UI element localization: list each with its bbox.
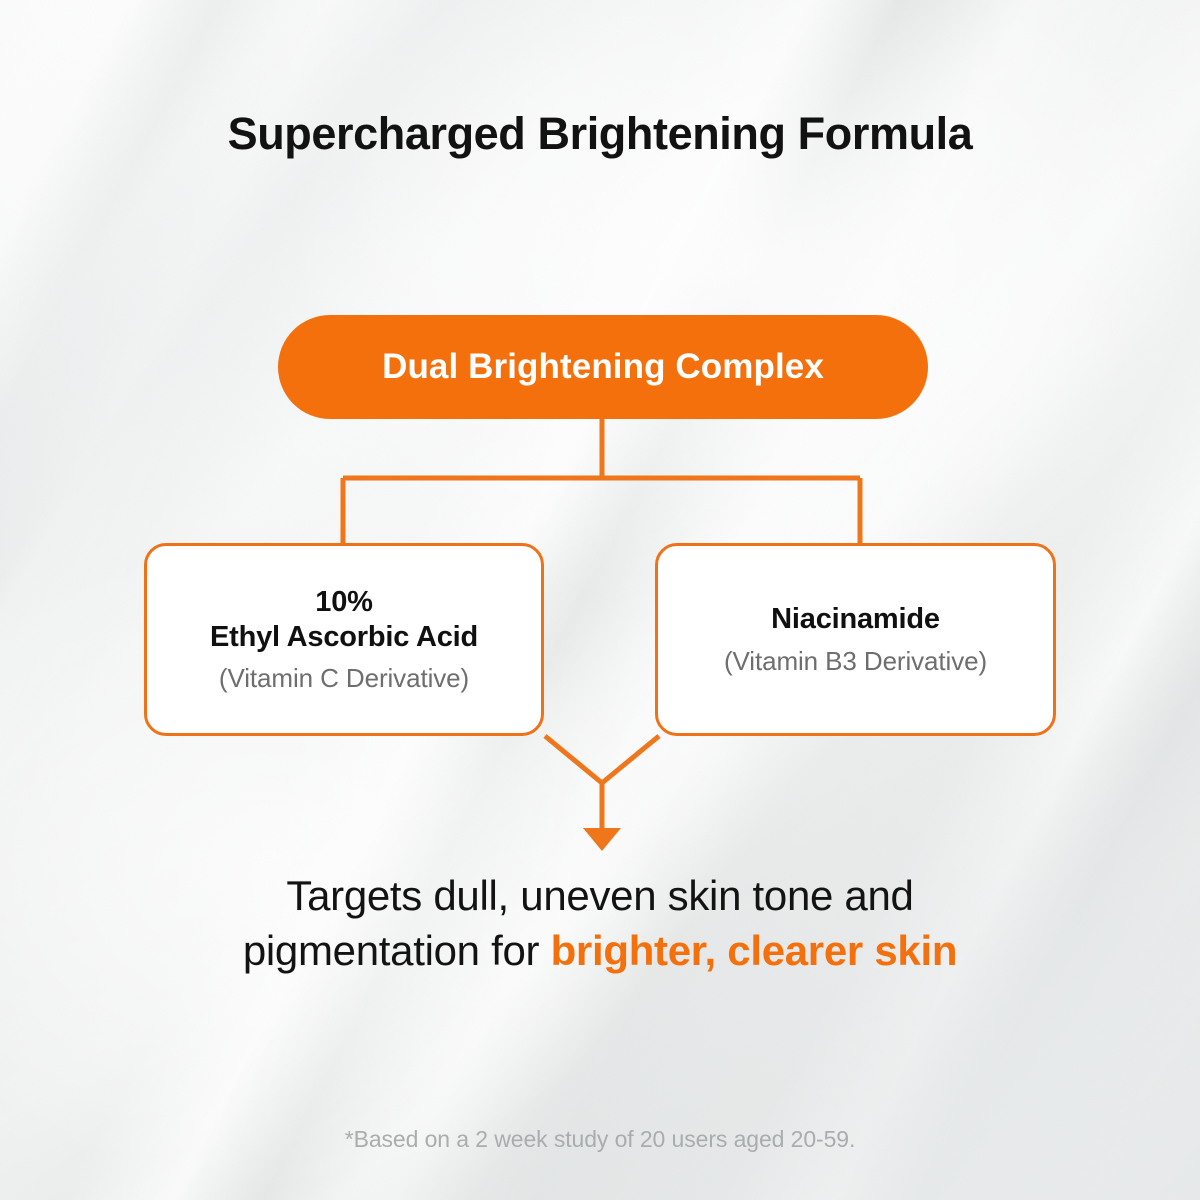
ingredient-subtitle: (Vitamin C Derivative) bbox=[219, 663, 469, 694]
benefit-line-1: Targets dull, uneven skin tone and bbox=[0, 868, 1200, 923]
ingredient-name-line-1: Niacinamide bbox=[771, 602, 940, 637]
benefit-statement: Targets dull, uneven skin tone and pigme… bbox=[0, 868, 1200, 979]
benefit-line-2-plain: pigmentation for bbox=[243, 927, 551, 974]
benefit-line-2: pigmentation for brighter, clearer skin bbox=[0, 923, 1200, 978]
footnote-disclaimer: *Based on a 2 week study of 20 users age… bbox=[0, 1126, 1200, 1153]
connector-merge-right bbox=[602, 736, 659, 783]
benefit-highlight-text: brighter, clearer skin bbox=[551, 927, 958, 974]
infographic-canvas: Supercharged Brightening Formula Dual Br… bbox=[0, 0, 1200, 1200]
ingredient-subtitle: (Vitamin B3 Derivative) bbox=[724, 646, 987, 677]
ingredient-name-block: Niacinamide bbox=[771, 602, 940, 637]
dual-brightening-complex-pill[interactable]: Dual Brightening Complex bbox=[278, 315, 928, 419]
ingredient-card-ethyl-ascorbic-acid[interactable]: 10% Ethyl Ascorbic Acid (Vitamin C Deriv… bbox=[144, 543, 544, 736]
ingredient-name-line-2: Ethyl Ascorbic Acid bbox=[210, 620, 478, 655]
ingredient-card-niacinamide[interactable]: Niacinamide (Vitamin B3 Derivative) bbox=[655, 543, 1056, 736]
ingredient-name-block: 10% Ethyl Ascorbic Acid bbox=[210, 585, 478, 656]
connector-merge-left bbox=[545, 736, 602, 783]
dual-brightening-complex-label: Dual Brightening Complex bbox=[382, 347, 824, 387]
arrowhead-icon bbox=[583, 828, 621, 851]
ingredient-name-line-1: 10% bbox=[210, 585, 478, 620]
